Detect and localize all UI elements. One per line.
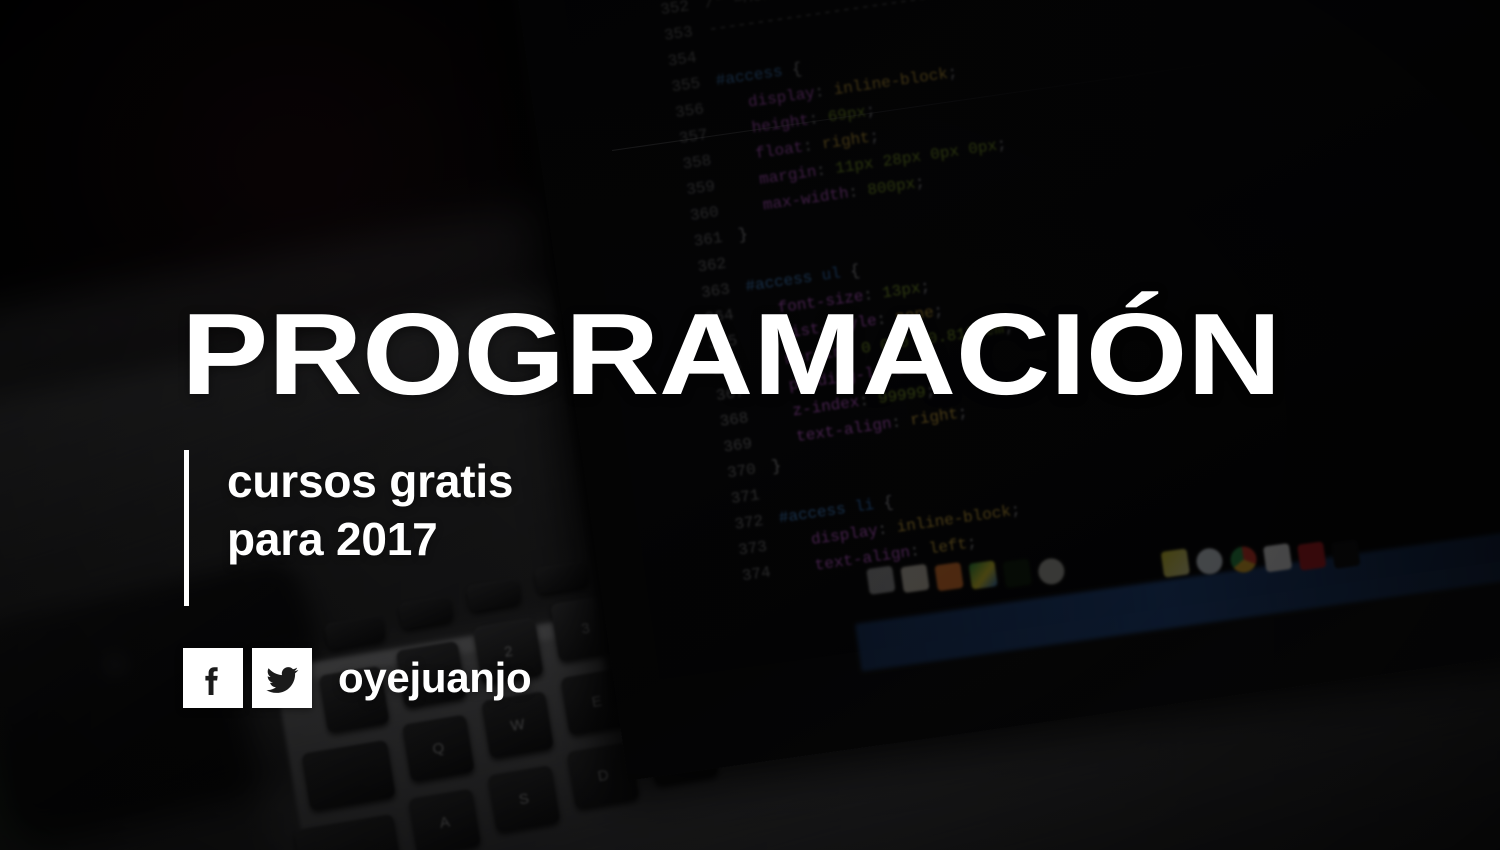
vertical-accent-rule — [184, 450, 189, 606]
twitter-button[interactable] — [252, 648, 312, 708]
page-title: PROGRAMACIÓN — [181, 296, 1281, 412]
facebook-button[interactable] — [183, 648, 243, 708]
poster-canvas: 2 3 4 5 6 Q W E R T Y A S D F 344 .widge… — [0, 0, 1500, 850]
social-handle: oyejuanjo — [338, 648, 531, 708]
social-row: oyejuanjo — [183, 648, 531, 708]
subtitle-line-1: cursos gratis — [227, 452, 513, 510]
twitter-icon — [264, 661, 300, 695]
subtitle-line-2: para 2017 — [227, 510, 513, 568]
facebook-icon — [196, 661, 230, 695]
text-overlay: PROGRAMACIÓN cursos gratis para 2017 oye… — [0, 0, 1500, 850]
subtitle: cursos gratis para 2017 — [227, 452, 513, 568]
